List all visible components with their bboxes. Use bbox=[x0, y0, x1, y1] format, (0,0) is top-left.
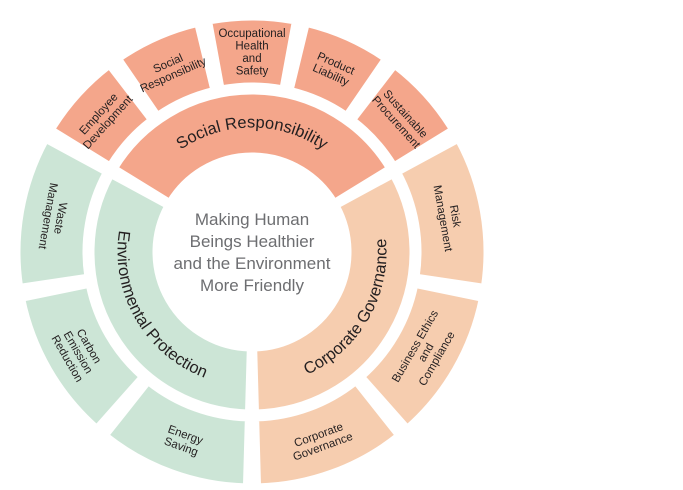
center-circle: Making HumanBeings Healthierand the Envi… bbox=[159, 159, 345, 345]
sunburst-svg: EmployeeDevelopmentSocialResponsibilityO… bbox=[0, 0, 683, 490]
center-disc bbox=[159, 159, 345, 345]
outer-segment-occupational-health-and-safety[interactable]: OccupationalHealthandSafety bbox=[210, 18, 294, 88]
sunburst-diagram: EmployeeDevelopmentSocialResponsibilityO… bbox=[0, 0, 683, 490]
